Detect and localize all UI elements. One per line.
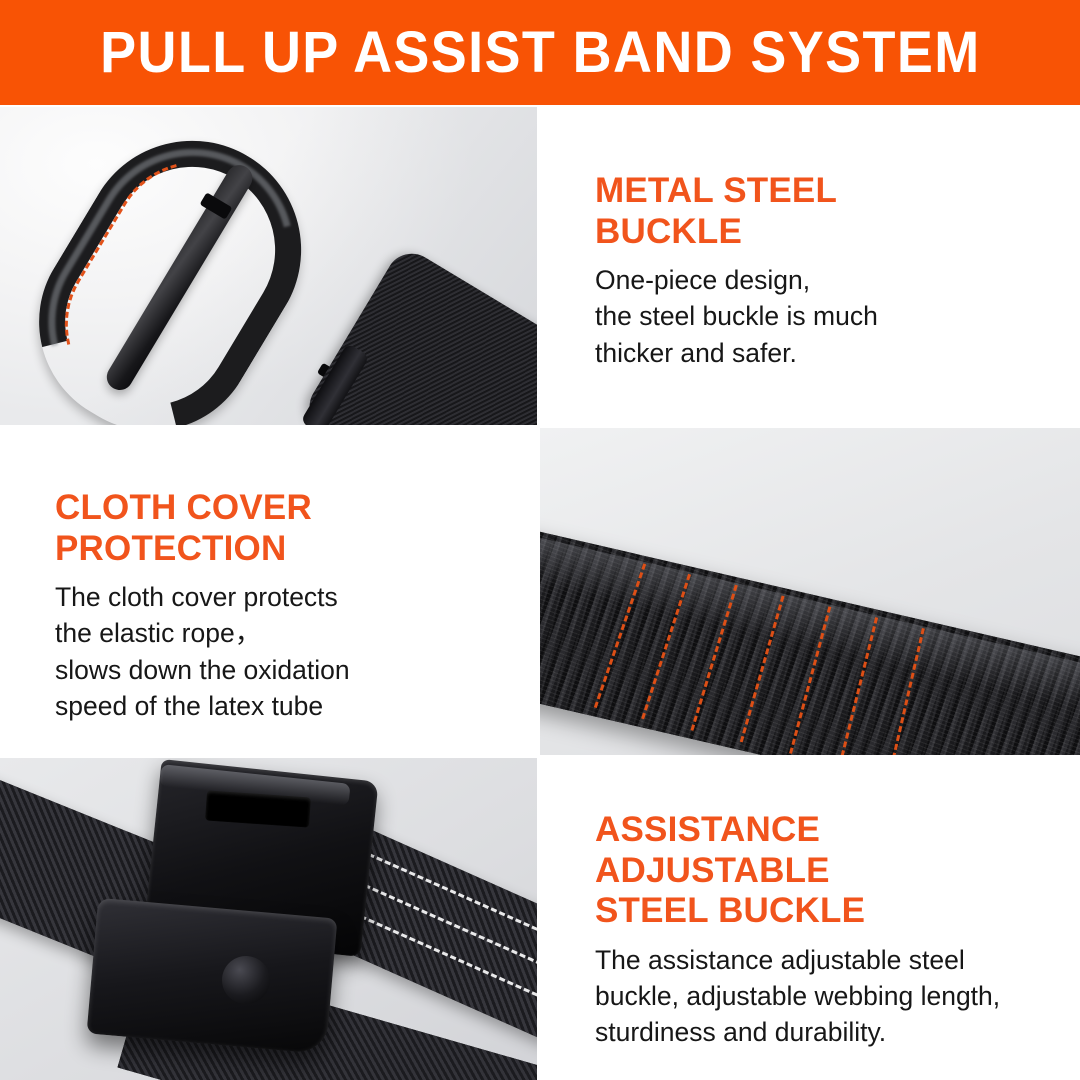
feature-heading-metal-steel-buckle: METAL STEEL BUCKLE [595,171,1060,252]
feature-heading-assistance-adjustable-steel-buckle: ASSISTANCE ADJUSTABLE STEEL BUCKLE [595,810,1066,932]
infographic-page: PULL UP ASSIST BAND SYSTEM METAL STEEL B… [0,0,1080,1080]
feature-body-assistance-adjustable-steel-buckle: The assistance adjustable steel buckle, … [595,942,1066,1051]
text-panel: CLOTH COVER PROTECTION The cloth cover p… [0,428,537,755]
feature-text-metal-steel-buckle: METAL STEEL BUCKLE One-piece design, the… [540,107,1080,425]
feature-heading-cloth-cover-protection: CLOTH COVER PROTECTION [55,488,517,569]
carabiner-photo [0,107,537,425]
feature-image-assistance-adjustable-steel-buckle [0,758,537,1080]
feature-row-metal-steel-buckle: METAL STEEL BUCKLE One-piece design, the… [0,107,1080,425]
feature-body-cloth-cover-protection: The cloth cover protects the elastic rop… [55,579,517,724]
feature-row-assistance-adjustable-steel-buckle: ASSISTANCE ADJUSTABLE STEEL BUCKLE The a… [0,758,1080,1080]
page-title: PULL UP ASSIST BAND SYSTEM [100,24,980,82]
cam-buckle-photo [0,758,537,1080]
header-banner: PULL UP ASSIST BAND SYSTEM [0,0,1080,105]
text-panel: METAL STEEL BUCKLE One-piece design, the… [540,107,1080,425]
cloth-covered-band [540,522,1080,755]
feature-row-cloth-cover-protection: CLOTH COVER PROTECTION The cloth cover p… [0,428,1080,755]
feature-image-metal-steel-buckle [0,107,537,425]
feature-text-cloth-cover-protection: CLOTH COVER PROTECTION The cloth cover p… [0,428,537,755]
elastic-band-photo [540,428,1080,755]
feature-body-metal-steel-buckle: One-piece design, the steel buckle is mu… [595,262,1060,371]
text-panel: ASSISTANCE ADJUSTABLE STEEL BUCKLE The a… [540,758,1080,1080]
feature-text-assistance-adjustable-steel-buckle: ASSISTANCE ADJUSTABLE STEEL BUCKLE The a… [540,758,1080,1080]
feature-image-cloth-cover-protection [540,428,1080,755]
cam-buckle-lever [87,898,338,1054]
